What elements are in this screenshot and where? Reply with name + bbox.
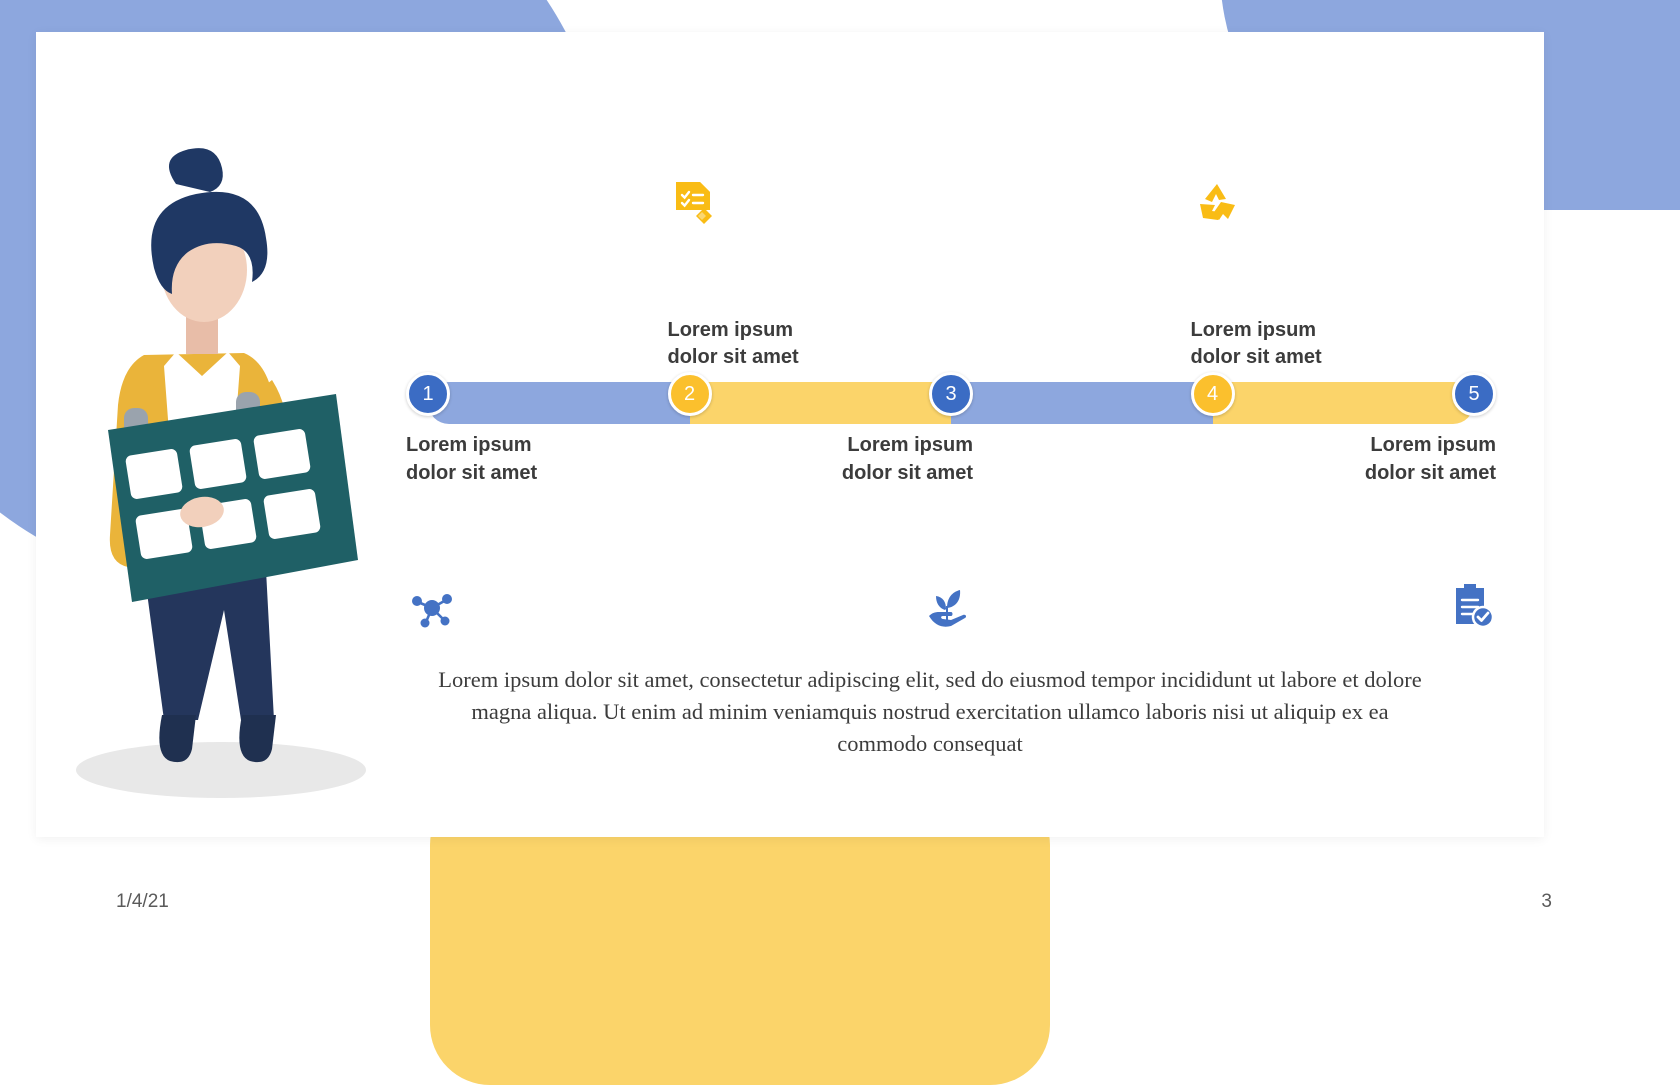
footer-page-number: 3 <box>1541 891 1552 913</box>
illustration-calendar-board <box>108 392 358 602</box>
timeline-node-1[interactable]: 1 <box>406 372 450 416</box>
timeline-segment-1-2 <box>428 382 690 424</box>
network-nodes-icon <box>406 580 458 632</box>
timeline-label-4: Lorem ipsum dolor sit amet <box>1191 317 1351 372</box>
body-paragraph: Lorem ipsum dolor sit amet, consectetur … <box>430 664 1430 761</box>
timeline-segment-2-3 <box>690 382 952 424</box>
timeline-segment-4-5 <box>1213 382 1475 424</box>
footer-date: 1/4/21 <box>116 891 169 913</box>
recycle-icon <box>1191 178 1243 230</box>
timeline-node-4[interactable]: 4 <box>1191 372 1235 416</box>
timeline-node-2[interactable]: 2 <box>668 372 712 416</box>
illustration-floor-shadow <box>76 742 366 798</box>
clipboard-check-icon <box>1444 580 1496 632</box>
timeline: 1Lorem ipsum dolor sit amet2Lorem ipsum … <box>396 170 1506 670</box>
plant-in-hand-icon <box>921 580 973 632</box>
illustration-woman-holding-calendar <box>36 140 416 820</box>
timeline-node-3[interactable]: 3 <box>929 372 973 416</box>
timeline-label-1: Lorem ipsum dolor sit amet <box>406 432 566 487</box>
checklist-pencil-icon <box>668 178 720 230</box>
timeline-label-5: Lorem ipsum dolor sit amet <box>1336 432 1496 487</box>
timeline-label-3: Lorem ipsum dolor sit amet <box>813 432 973 487</box>
timeline-label-2: Lorem ipsum dolor sit amet <box>668 317 828 372</box>
timeline-node-5[interactable]: 5 <box>1452 372 1496 416</box>
timeline-segment-3-4 <box>951 382 1213 424</box>
